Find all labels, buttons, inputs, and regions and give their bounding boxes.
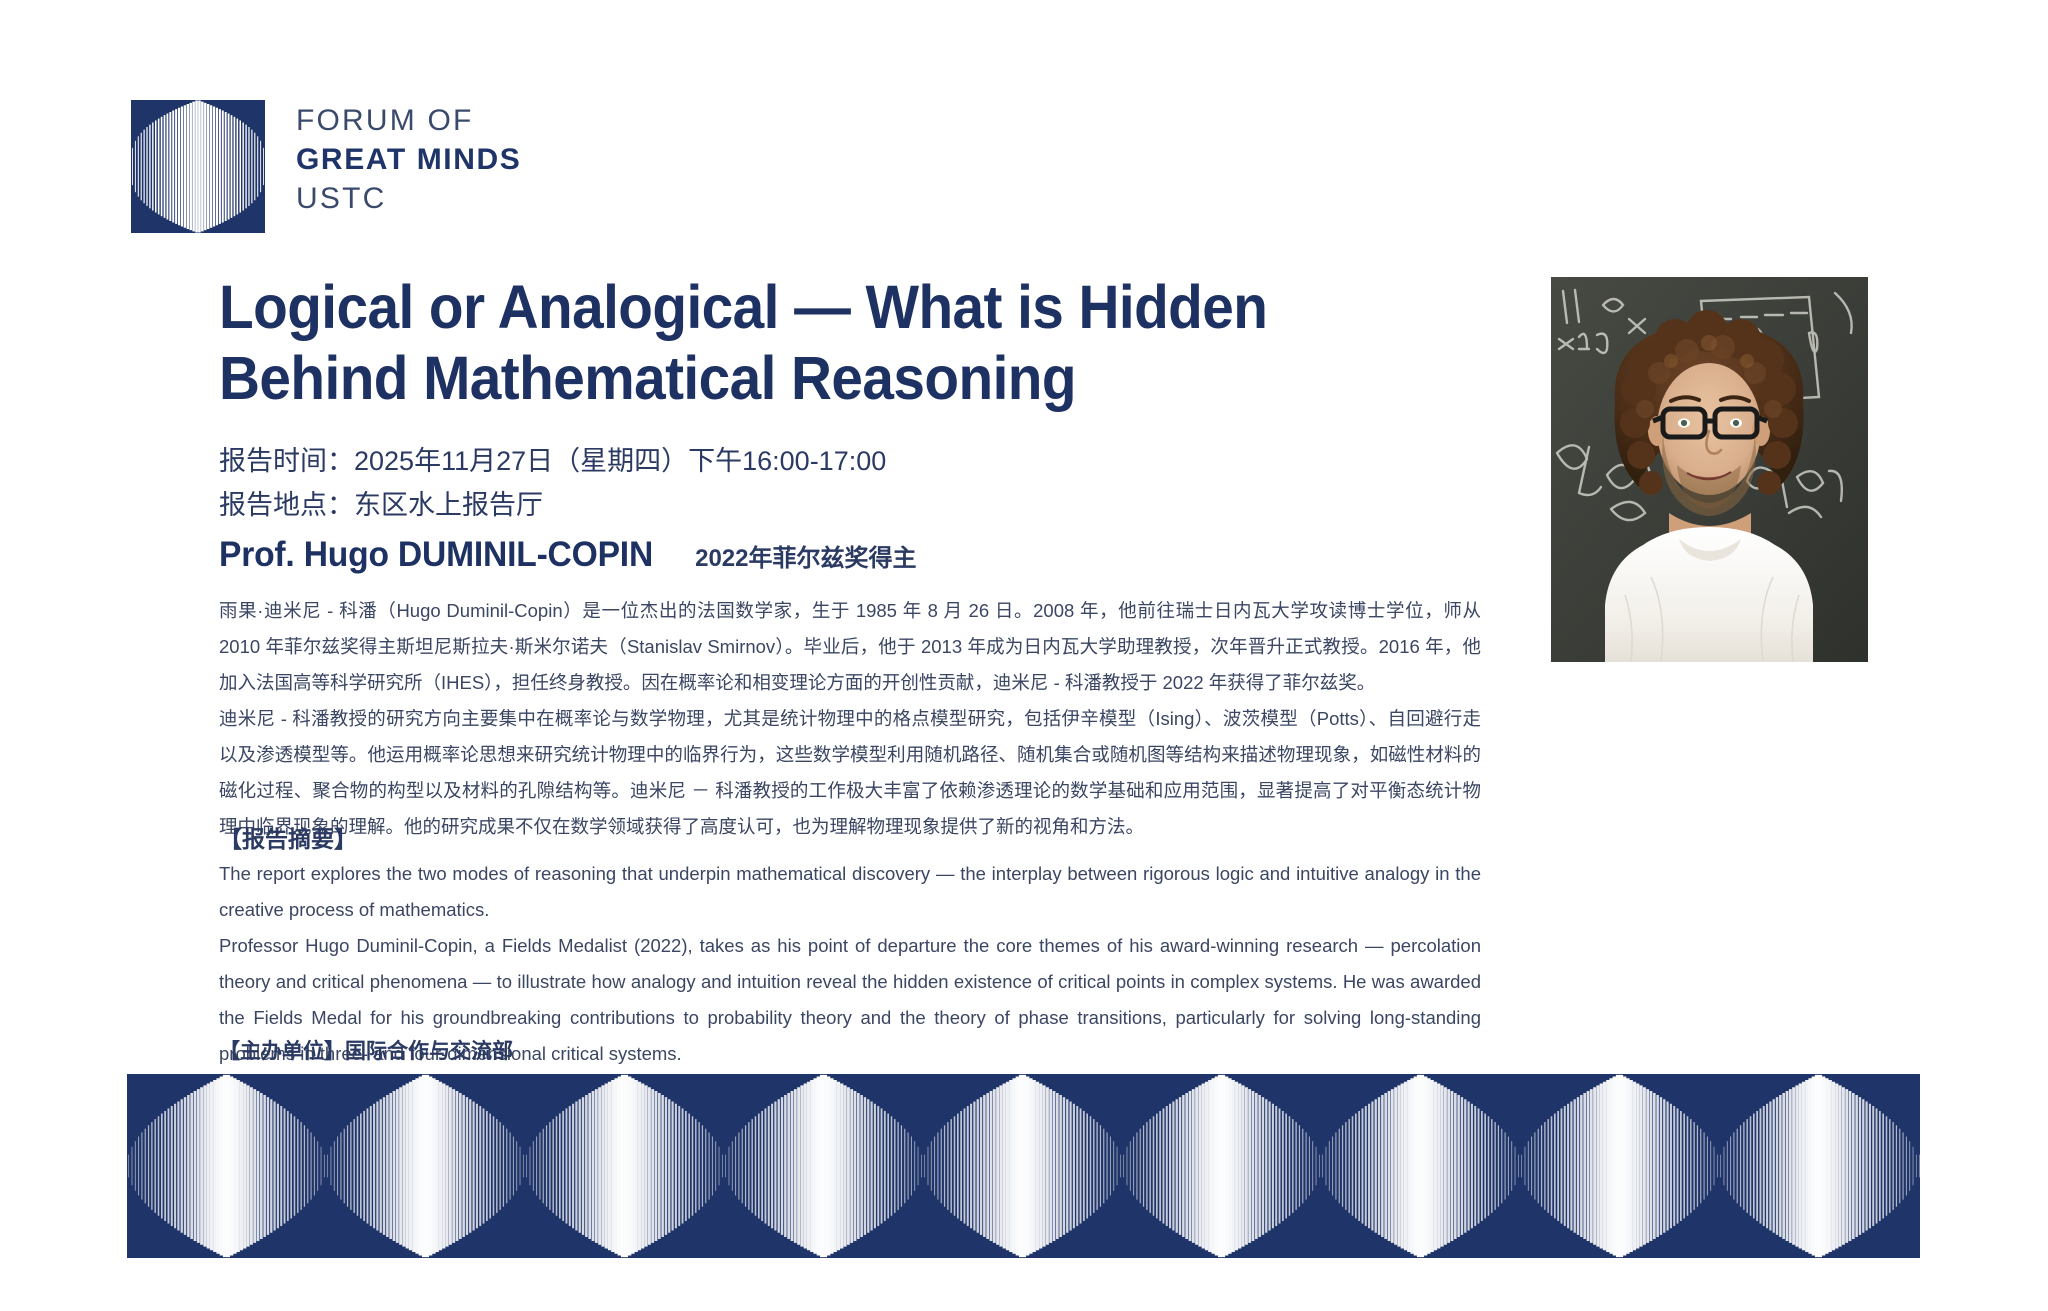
speaker-bio: 雨果·迪米尼 - 科潘（Hugo Duminil-Copin）是一位杰出的法国数… bbox=[219, 593, 1481, 845]
page-title-line-2: Behind Mathematical Reasoning bbox=[219, 343, 1419, 414]
event-meta: 报告时间：2025年11月27日（星期四）下午16:00-17:00 报告地点：… bbox=[219, 440, 886, 527]
brand-wordmark: FORUM OF GREAT MINDS USTC bbox=[296, 100, 521, 223]
abstract-heading: 【报告摘要】 bbox=[219, 820, 357, 854]
forum-of-great-minds-mark-icon bbox=[131, 100, 265, 233]
speaker-award: 2022年菲尔兹奖得主 bbox=[695, 538, 916, 573]
brand-logo-block: FORUM OF GREAT MINDS USTC bbox=[131, 100, 521, 233]
wordmark-line-2: GREAT MINDS bbox=[296, 145, 521, 175]
organizer-line: 【主办单位】国际合作与交流部 bbox=[219, 1035, 513, 1065]
abstract-paragraph-1: The report explores the two modes of rea… bbox=[219, 856, 1481, 928]
speaker-portrait-photo bbox=[1551, 277, 1868, 662]
event-time: 报告时间：2025年11月27日（星期四）下午16:00-17:00 bbox=[219, 440, 886, 484]
page-title: Logical or Analogical — What is Hidden B… bbox=[219, 272, 1419, 414]
speaker-line: Prof. Hugo DUMINIL-COPIN 2022年菲尔兹奖得主 bbox=[219, 535, 917, 575]
bio-paragraph-1: 雨果·迪米尼 - 科潘（Hugo Duminil-Copin）是一位杰出的法国数… bbox=[219, 593, 1481, 701]
bio-paragraph-2: 迪米尼 - 科潘教授的研究方向主要集中在概率论与数学物理，尤其是统计物理中的格点… bbox=[219, 701, 1481, 845]
wordmark-line-3: USTC bbox=[296, 184, 521, 214]
decorative-wave-banner bbox=[127, 1074, 1920, 1258]
wordmark-line-1: FORUM OF bbox=[296, 106, 521, 136]
poster-canvas: FORUM OF GREAT MINDS USTC Logical or Ana… bbox=[0, 0, 2048, 1311]
event-location: 报告地点：东区水上报告厅 bbox=[219, 484, 886, 528]
page-title-line-1: Logical or Analogical — What is Hidden bbox=[219, 272, 1419, 343]
speaker-name: Prof. Hugo DUMINIL-COPIN bbox=[219, 535, 653, 575]
